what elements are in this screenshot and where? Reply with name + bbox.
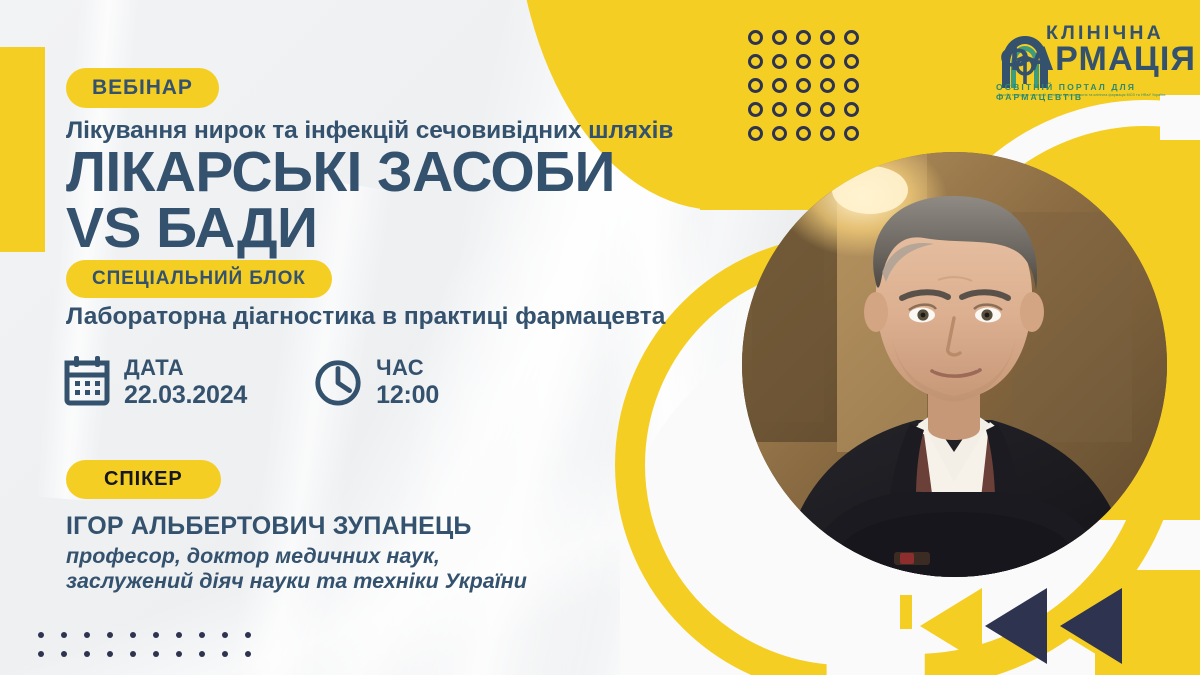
logo-fine-print: Засоби провідних компаній, клінічна фарм… bbox=[998, 93, 1165, 97]
logo-line-main: ФАРМАЦІЯ bbox=[1000, 40, 1196, 79]
ring-dot bbox=[820, 54, 835, 69]
meta-date-value: 22.03.2024 bbox=[124, 381, 247, 409]
ring-dot bbox=[844, 102, 859, 117]
badge-speaker: СПІКЕР bbox=[66, 460, 221, 499]
headline-title-line2: VS БАДИ bbox=[66, 201, 615, 257]
clock-icon bbox=[313, 355, 363, 412]
ring-dot bbox=[748, 30, 763, 45]
meta-time-label: ЧАС bbox=[376, 355, 424, 380]
arrow-triangle-4 bbox=[1060, 588, 1122, 664]
ring-dot-grid bbox=[748, 30, 868, 150]
ring-dot bbox=[796, 54, 811, 69]
poster-content: ВЕБІНАР Лікування нирок та інфекцій сечо… bbox=[0, 0, 720, 675]
headline-title: ЛІКАРСЬКІ ЗАСОБИ VS БАДИ bbox=[66, 145, 615, 257]
ring-dot bbox=[820, 126, 835, 141]
ring-dot bbox=[820, 102, 835, 117]
ring-dot bbox=[748, 54, 763, 69]
ring-dot bbox=[772, 102, 787, 117]
meta-date-label: ДАТА bbox=[124, 355, 184, 380]
speaker-name: ІГОР АЛЬБЕРТОВИЧ ЗУПАНЕЦЬ bbox=[66, 512, 472, 541]
meta-time-value: 12:00 bbox=[376, 381, 439, 409]
ring-dot bbox=[820, 78, 835, 93]
meta-date: ДАТА 22.03.2024 bbox=[63, 355, 247, 412]
speaker-role-line2: заслужений діяч науки та техніки України bbox=[66, 569, 527, 594]
ring-dot bbox=[748, 126, 763, 141]
ring-dot bbox=[772, 30, 787, 45]
event-meta: ДАТА 22.03.2024 ЧАС 12:00 bbox=[63, 355, 439, 412]
arrow-triangle-2 bbox=[985, 588, 1047, 664]
ring-dot bbox=[844, 78, 859, 93]
ring-dot bbox=[820, 30, 835, 45]
speaker-role-line1: професор, доктор медичних наук, bbox=[66, 544, 527, 569]
ring-dot bbox=[796, 30, 811, 45]
badge-webinar: ВЕБІНАР bbox=[66, 68, 219, 108]
yellow-sliver bbox=[900, 595, 912, 629]
meta-time: ЧАС 12:00 bbox=[313, 355, 439, 412]
ring-dot bbox=[844, 30, 859, 45]
headline-title-line1: ЛІКАРСЬКІ ЗАСОБИ bbox=[66, 145, 615, 201]
calendar-icon bbox=[63, 355, 111, 412]
badge-special-block: СПЕЦІАЛЬНИЙ БЛОК bbox=[66, 260, 332, 298]
webinar-poster: ВЕБІНАР Лікування нирок та інфекцій сечо… bbox=[0, 0, 1200, 675]
ring-dot bbox=[748, 102, 763, 117]
speaker-photo bbox=[742, 152, 1167, 577]
ring-dot bbox=[772, 54, 787, 69]
ring-dot bbox=[796, 126, 811, 141]
meta-date-text: ДАТА 22.03.2024 bbox=[124, 355, 247, 409]
ring-dot bbox=[796, 102, 811, 117]
ring-dot bbox=[772, 78, 787, 93]
brand-logo: КЛІНІЧНА ФАРМАЦІЯ ОСВІТНІЙ ПОРТАЛ ДЛЯ ФА… bbox=[986, 18, 1176, 98]
arrow-triangle-1 bbox=[920, 588, 982, 664]
special-block-description: Лабораторна діагностика в практиці фарма… bbox=[66, 303, 665, 331]
ring-dot bbox=[772, 126, 787, 141]
ring-dot bbox=[844, 54, 859, 69]
ring-dot bbox=[748, 78, 763, 93]
meta-time-text: ЧАС 12:00 bbox=[376, 355, 439, 409]
logo-tagline: ОСВІТНІЙ ПОРТАЛ ДЛЯ ФАРМАЦЕВТІВ bbox=[996, 82, 1176, 102]
speaker-role: професор, доктор медичних наук, заслужен… bbox=[66, 544, 527, 595]
ring-dot bbox=[844, 126, 859, 141]
ring-dot bbox=[796, 78, 811, 93]
